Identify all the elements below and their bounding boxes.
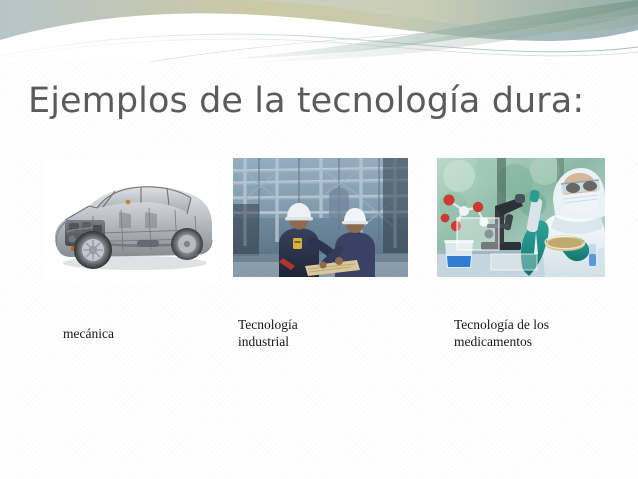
presentation-slide: Ejemplos de la tecnología dura:	[0, 0, 638, 479]
page-title: Ejemplos de la tecnología dura:	[28, 79, 618, 123]
image-industrial-plant-workers	[233, 158, 408, 277]
figure-caption-industrial: Tecnología industrial	[238, 317, 298, 350]
figure-caption-medicamentos: Tecnología de los medicamentos	[454, 317, 549, 350]
image-cutaway-car	[45, 160, 217, 282]
figure-caption-mecanica: mecánica	[63, 326, 114, 343]
figure-mecanica: mecánica	[45, 160, 217, 282]
figure-medicamentos: Tecnología de los medicamentos	[437, 158, 605, 277]
decorative-wave-banner	[0, 0, 638, 62]
image-laboratory-scientist	[437, 158, 605, 277]
figure-industrial: Tecnología industrial	[233, 158, 408, 277]
